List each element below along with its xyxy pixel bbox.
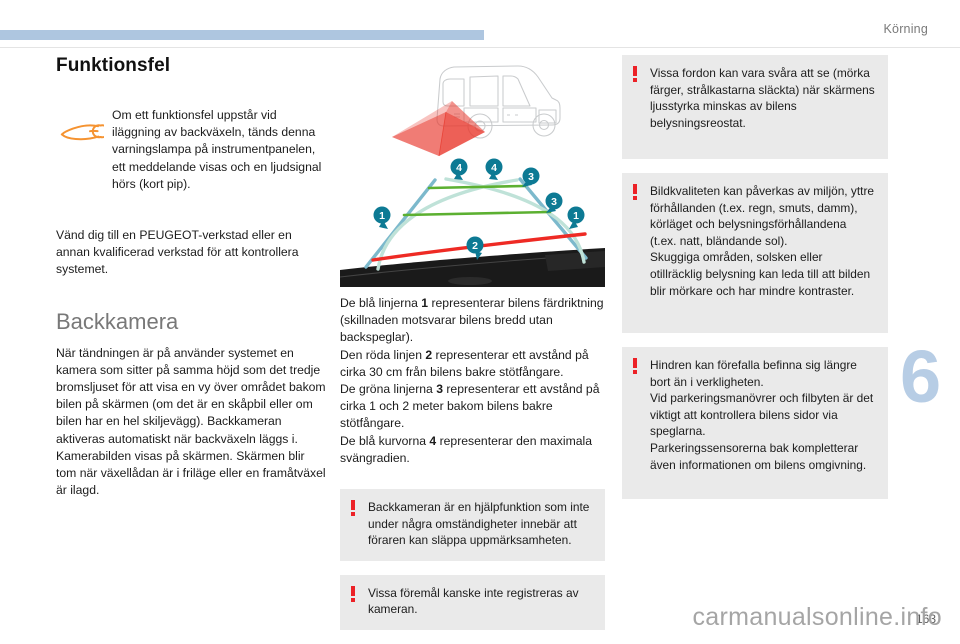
wrench-icon — [60, 119, 104, 145]
warning-box: Vissa fordon kan vara svåra att se (mörk… — [622, 55, 888, 159]
svg-text:3: 3 — [528, 171, 534, 183]
warning-box: Vissa föremål kanske inte registreras av… — [340, 575, 605, 630]
callout-1-right: 1 — [568, 207, 585, 230]
svg-text:2: 2 — [472, 240, 478, 252]
warning-text: Hindren kan förefalla befinna sig längre… — [650, 357, 876, 473]
guideline-paragraph-3: De gröna linjerna 3 representerar ett av… — [340, 381, 605, 433]
backkamera-body-text: När tändningen är på använder systemet e… — [56, 345, 328, 500]
warning-box: Bildkvaliteten kan påverkas av miljön, y… — [622, 173, 888, 333]
header-divider — [0, 47, 960, 48]
guideline-paragraph-4: De blå kurvorna 4 representerar den maxi… — [340, 433, 605, 467]
chapter-number: 6 — [900, 340, 941, 414]
svg-text:1: 1 — [573, 210, 579, 222]
header-accent-bar — [0, 30, 484, 40]
callout-1-left: 1 — [374, 207, 391, 230]
warning-icon — [632, 66, 640, 82]
page-title: Funktionsfel — [56, 55, 328, 77]
svg-text:3: 3 — [551, 196, 557, 208]
sub-title-backkamera: Backkamera — [56, 309, 328, 335]
warning-box: Backkameran är en hjälpfunktion som inte… — [340, 489, 605, 561]
left-column: Funktionsfel Om ett funktionsfel uppstår… — [56, 55, 328, 499]
callout-4-left: 4 — [451, 159, 468, 181]
chapter-title: Körning — [884, 22, 929, 36]
callout-2-center: 2 — [467, 237, 484, 261]
guideline-paragraph-2: Den röda linjen 2 representerar ett avst… — [340, 347, 605, 381]
watermark: carmanualsonline.info — [692, 603, 942, 632]
rear-camera-guidelines-illustration: 4 4 3 3 — [340, 55, 605, 287]
svg-text:1: 1 — [379, 210, 385, 222]
right-column: Vissa fordon kan vara svåra att se (mörk… — [622, 55, 888, 513]
middle-column: 4 4 3 3 — [340, 55, 605, 644]
warning-box: Hindren kan förefalla befinna sig längre… — [622, 347, 888, 499]
svg-text:4: 4 — [456, 162, 462, 174]
malfunction-note-text: Om ett funktionsfel uppstår vid iläggnin… — [112, 107, 328, 193]
guideline-paragraph-1: De blå linjerna 1 representerar bilens f… — [340, 295, 605, 347]
warning-text: Bildkvaliteten kan påverkas av miljön, y… — [650, 183, 876, 299]
page-header: Körning — [0, 0, 960, 48]
warning-text: Backkameran är en hjälpfunktion som inte… — [368, 499, 593, 549]
callout-4-right: 4 — [486, 159, 503, 181]
malfunction-note: Om ett funktionsfel uppstår vid iläggnin… — [56, 107, 328, 193]
warning-icon — [632, 184, 640, 200]
callout-3-upper: 3 — [522, 168, 540, 188]
workshop-text: Vänd dig till en PEUGEOT-verkstad eller … — [56, 227, 328, 279]
svg-text:4: 4 — [491, 162, 497, 174]
warning-text: Vissa fordon kan vara svåra att se (mörk… — [650, 65, 876, 131]
callout-badges: 4 4 3 3 — [374, 159, 585, 261]
chapter-tab: 6 — [900, 340, 960, 460]
warning-icon — [350, 500, 358, 516]
warning-icon — [350, 586, 358, 602]
warning-icon — [632, 358, 640, 374]
warning-text: Vissa föremål kanske inte registreras av… — [368, 585, 593, 618]
